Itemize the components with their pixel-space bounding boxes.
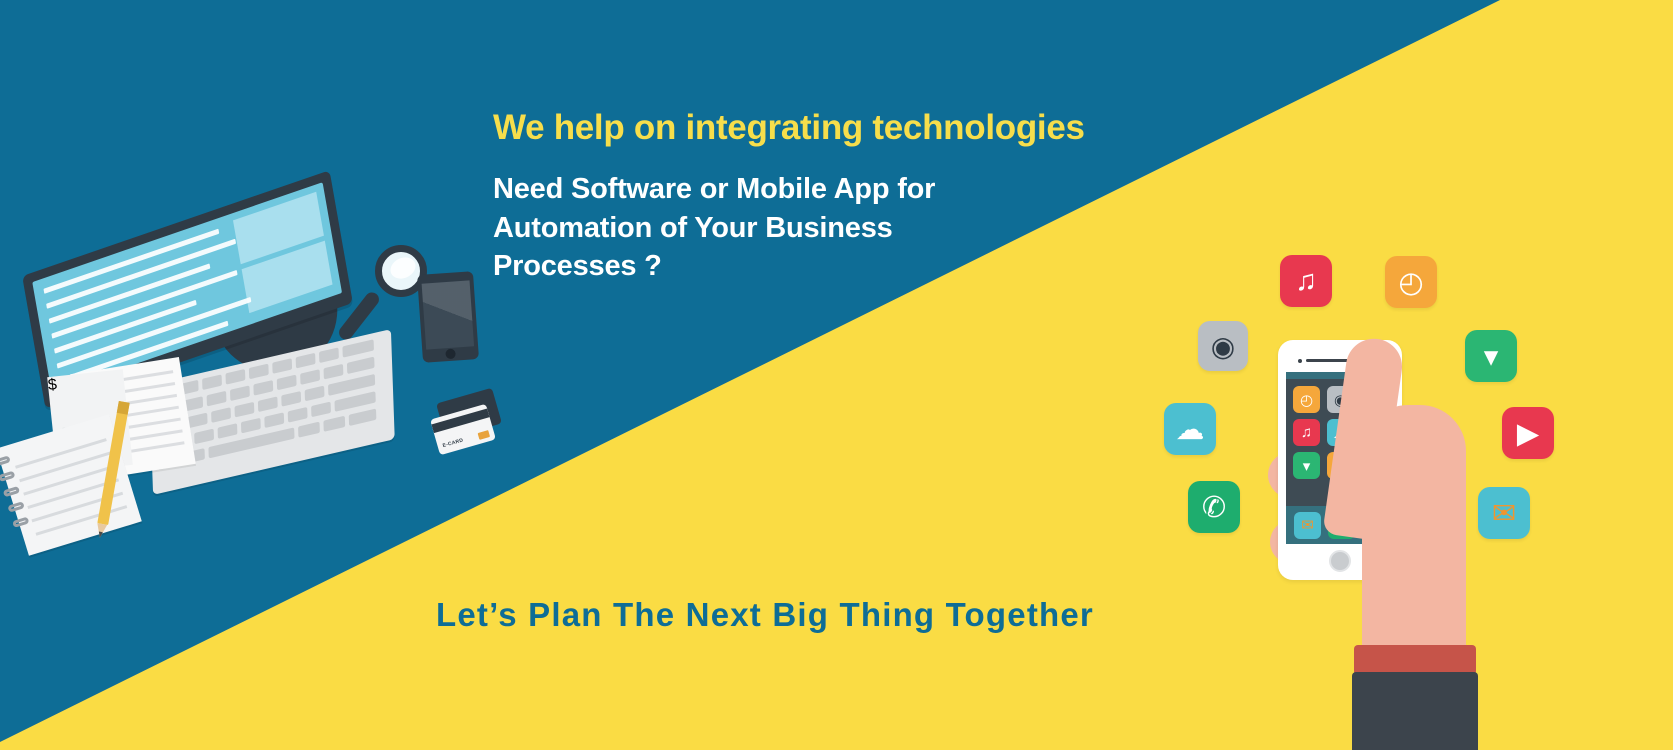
pencil-cap — [117, 401, 130, 415]
screen-glint — [422, 280, 474, 349]
subheadline-line: Processes ? — [493, 247, 1053, 285]
mail-icon[interactable]: ✉ — [1478, 487, 1530, 539]
hero-banner: $ E-CARD ♫◴◉▾☁▶✆✉ — [0, 0, 1673, 750]
proximity-sensor-icon — [1298, 359, 1302, 363]
card-label: E-CARD — [442, 437, 464, 449]
home-button-icon[interactable] — [1329, 550, 1351, 572]
app-clock-icon[interactable]: ◴ — [1293, 386, 1320, 413]
shirt-cuff — [1354, 645, 1476, 675]
subheadline-line: Automation of Your Business — [493, 209, 1053, 247]
dock-app-mail-icon[interactable]: ✉ — [1294, 512, 1321, 539]
camera-icon[interactable]: ◉ — [1198, 321, 1248, 371]
page-title: We help on integrating technologies — [493, 108, 1193, 148]
hand-holding-smartphone-illustration: ♫◴◉▾☁▶✆✉ ◴◉▶♫☁●▾○ ✉✆ — [1140, 230, 1673, 750]
video-icon[interactable]: ▶ — [1502, 407, 1554, 459]
card-chip-icon — [478, 430, 491, 440]
desk-smartphone-screen — [422, 280, 474, 349]
music-icon[interactable]: ♫ — [1280, 255, 1332, 307]
subheadline-line: Need Software or Mobile App for — [493, 170, 1053, 208]
phone-icon[interactable]: ✆ — [1188, 481, 1240, 533]
sleeve — [1352, 672, 1478, 750]
clock-icon[interactable]: ◴ — [1385, 256, 1437, 308]
home-button-icon — [445, 349, 456, 360]
smartphone-on-desk-icon — [417, 271, 479, 363]
earpiece-speaker-icon — [1306, 359, 1352, 362]
app-maps-icon[interactable]: ▾ — [1293, 452, 1320, 479]
desk-workspace-illustration: $ E-CARD — [0, 195, 530, 615]
subheadline: Need Software or Mobile App for Automati… — [493, 170, 1053, 285]
maps-icon[interactable]: ▾ — [1465, 330, 1517, 382]
copy-block: We help on integrating technologies Need… — [493, 108, 1193, 285]
weather-icon[interactable]: ☁ — [1164, 403, 1216, 455]
app-music-icon[interactable]: ♫ — [1293, 419, 1320, 446]
magnifier-glint — [387, 253, 419, 282]
tagline: Let’s Plan The Next Big Thing Together — [0, 596, 1530, 634]
